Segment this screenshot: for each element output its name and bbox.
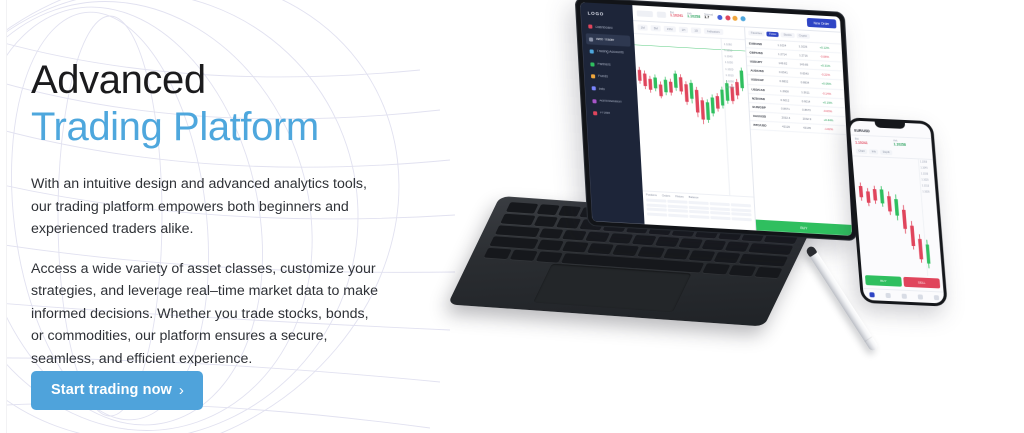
symbol-pill[interactable] [637,10,653,17]
sidebar-item-label: Info [599,87,605,91]
tab-depth[interactable]: Depth [880,150,892,156]
wallet-icon [590,50,594,54]
sidebar-item-label: Profile [600,112,610,116]
sidebar-item-partners[interactable]: Partners [587,58,632,71]
row-change: +0.05% [821,82,840,87]
trade-icon[interactable] [901,293,906,298]
start-trading-label: Start trading now [51,382,172,398]
timeframe-pill[interactable] [657,11,666,17]
positions-rows [646,198,752,220]
tablet-body: LOGO Dashboard Web Trader Trading Accoun… [575,0,858,241]
device-scene: LOGO Dashboard Web Trader Trading Accoun… [494,0,1024,433]
market-watch-panel: Favorites Forex Stocks Crypto EUR/USD 1.… [744,27,852,235]
row-ask: 0.8834 [800,80,819,85]
row-bid: 1.1024 [777,43,796,48]
row-symbol: XAU/USD [753,114,780,119]
sidebar-item-label: Funds [598,75,608,79]
watch-tab-crypto[interactable]: Crypto [796,33,810,39]
quote-bid: Bid 1.10241 [670,12,683,19]
row-ask: 0.6014 [801,99,820,104]
positions-tab[interactable]: Orders [662,194,670,197]
row-change: -0.08% [820,54,839,59]
quote-ask: Ask 1.10258 [687,13,700,20]
row-change: -1.02% [824,127,843,132]
new-order-button[interactable]: New Order [806,18,836,29]
trackpad[interactable] [533,264,691,312]
grid-icon [588,25,592,29]
tablet-body-area: 1M 5M 15M 1H 1D Indicators [633,21,852,236]
tablet-device: LOGO Dashboard Web Trader Trading Accoun… [575,0,858,241]
row-change: +0.19% [823,100,842,105]
hero-section: Advanced Trading Platform With an intuit… [0,0,1024,433]
row-bid: 0.8832 [779,79,798,84]
quote-value: 1.10241 [855,141,890,147]
row-change: +0.12% [819,45,838,50]
row-bid: 43120 [782,125,801,130]
headline-line-2: Trading Platform [31,104,431,151]
sidebar-item-trading-accounts[interactable]: Trading Accounts [586,46,631,59]
phone-body: EUR/USD Bid 1.10241 Ask 1.10258 Char [846,117,948,306]
watch-tab-favorites[interactable]: Favorites [748,30,765,36]
topbar-icons [717,15,745,22]
tab-info[interactable]: Info [869,149,879,154]
row-change: -0.14% [822,91,841,96]
hero-paragraph-2: Access a wide variety of asset classes, … [31,258,381,371]
row-symbol: GBP/USD [749,50,776,55]
row-bid: 149.82 [778,61,797,66]
chart-tool[interactable]: 1H [678,26,688,33]
chart-tool[interactable]: Indicators [704,28,723,36]
price-tick: 1.1005 [921,189,936,196]
quote-value: 1.10258 [893,142,928,148]
quote-value: 1.10258 [687,15,700,19]
phone-device: EUR/USD Bid 1.10241 Ask 1.10258 Char [846,117,948,306]
phone-quote-ask: Ask 1.10258 [893,139,928,148]
row-symbol: NZD/USD [752,96,779,101]
row-change: +0.44% [824,118,843,123]
row-bid: 0.6012 [780,98,799,103]
left-edge-strip [0,0,7,433]
sidebar-item-web-trader[interactable]: Web Trader [586,34,631,47]
tablet-chart-panel: 1M 5M 15M 1H 1D Indicators [633,21,755,230]
row-symbol: BTC/USD [753,123,780,128]
settings-icon[interactable] [732,16,737,21]
alert-icon[interactable] [725,15,730,20]
sidebar-item-label: Partners [597,62,611,66]
sidebar-item-label: Trading Accounts [597,50,624,55]
phone-symbol: EUR/USD [854,129,927,136]
tab-chart[interactable]: Chart [856,149,868,154]
pencil-flat-edge [864,336,872,342]
home-icon[interactable] [869,292,874,297]
user-icon [593,111,597,115]
start-trading-button[interactable]: Start trading now › [31,371,203,410]
row-ask: 1.2716 [799,53,818,58]
chart-icon [589,37,593,41]
chart-tool[interactable]: 5M [650,25,660,32]
row-bid: 2032.4 [782,116,801,121]
row-change: +0.31% [820,63,839,68]
chevron-right-icon: › [179,383,184,398]
profile-icon[interactable] [933,295,938,300]
quote-spread: Spread 1.7 [704,13,713,20]
bell-icon[interactable] [717,15,722,20]
page-title: Advanced Trading Platform [31,57,431,151]
row-change: -0.03% [823,109,842,114]
chart-tool[interactable]: 1M [637,24,647,31]
row-ask: 0.8673 [802,108,821,113]
positions-tab[interactable]: Positions [646,194,657,198]
hero-paragraph-1: With an intuitive design and advanced an… [31,173,381,241]
chart-tool[interactable]: 15M [664,25,676,32]
row-ask: 149.85 [799,62,818,67]
quote-value: 1.7 [704,16,713,20]
row-bid: 0.8671 [781,107,800,112]
sidebar-item-funds[interactable]: Funds [588,71,633,84]
markets-icon[interactable] [885,292,890,297]
row-symbol: EUR/GBP [752,105,779,110]
row-bid: 0.6541 [779,70,798,75]
row-ask: 1.1026 [798,44,817,49]
quote-value: 1.10241 [670,14,683,18]
buy-button[interactable]: BUY [756,220,852,236]
row-bid: 1.3608 [780,88,799,93]
coins-icon [591,74,595,78]
headline-line-1: Advanced [31,57,431,104]
phone-chart: 1.1055 1.1045 1.1035 1.1025 1.1015 1.100… [852,155,942,276]
pencil-tip-icon [805,245,817,257]
sidebar-item-dashboard[interactable]: Dashboard [585,21,630,34]
price-tick: 1.0990 [724,84,748,91]
sidebar-item-info[interactable]: Info [588,83,633,96]
phone-quote-bid: Bid 1.10241 [855,138,890,147]
positions-panel: Positions Orders History Balance [643,190,756,230]
row-symbol: EUR/USD [749,41,776,46]
row-symbol: USD/JPY [750,59,777,64]
row-symbol: AUD/USD [750,69,777,74]
tablet-main: Bid 1.10241 Ask 1.10258 Spread 1.7 [632,5,852,236]
row-ask: 1.3611 [801,90,820,95]
sidebar-item-label: Dashboard [595,26,612,30]
sidebar-item-administration[interactable]: Administration [589,95,634,108]
row-symbol: USD/CHF [751,78,778,83]
portfolio-icon[interactable] [917,294,922,299]
info-icon [592,87,596,91]
row-ask: 0.6543 [800,71,819,76]
users-icon [590,62,594,66]
row-change: -0.22% [821,72,840,77]
market-watch-footer: BUY [756,220,852,236]
tablet-screen: LOGO Dashboard Web Trader Trading Accoun… [580,2,852,236]
watch-tab-forex[interactable]: Forex [767,31,779,37]
phone-bottom-nav [863,288,945,304]
row-symbol: USD/CAD [751,87,778,92]
positions-tab[interactable]: History [675,195,684,198]
chart-tool[interactable]: 1D [691,27,701,34]
watch-tab-stocks[interactable]: Stocks [781,32,795,38]
phone-buy-button[interactable]: BUY [865,275,902,287]
positions-tab[interactable]: Balance [689,196,699,200]
phone-sell-button[interactable]: SELL [903,277,940,289]
row-ask: 2032.9 [803,117,822,122]
row-ask: 43135 [803,126,822,131]
sidebar-item-profile[interactable]: Profile [590,108,635,121]
expand-icon[interactable] [740,16,745,21]
phone-screen: EUR/USD Bid 1.10241 Ask 1.10258 Char [850,120,945,303]
hero-copy: Advanced Trading Platform With an intuit… [31,57,431,370]
sidebar-item-label: Web Trader [596,38,615,43]
sidebar-item-label: Administration [599,99,622,104]
row-bid: 1.2714 [778,52,797,57]
gear-icon [592,99,596,103]
